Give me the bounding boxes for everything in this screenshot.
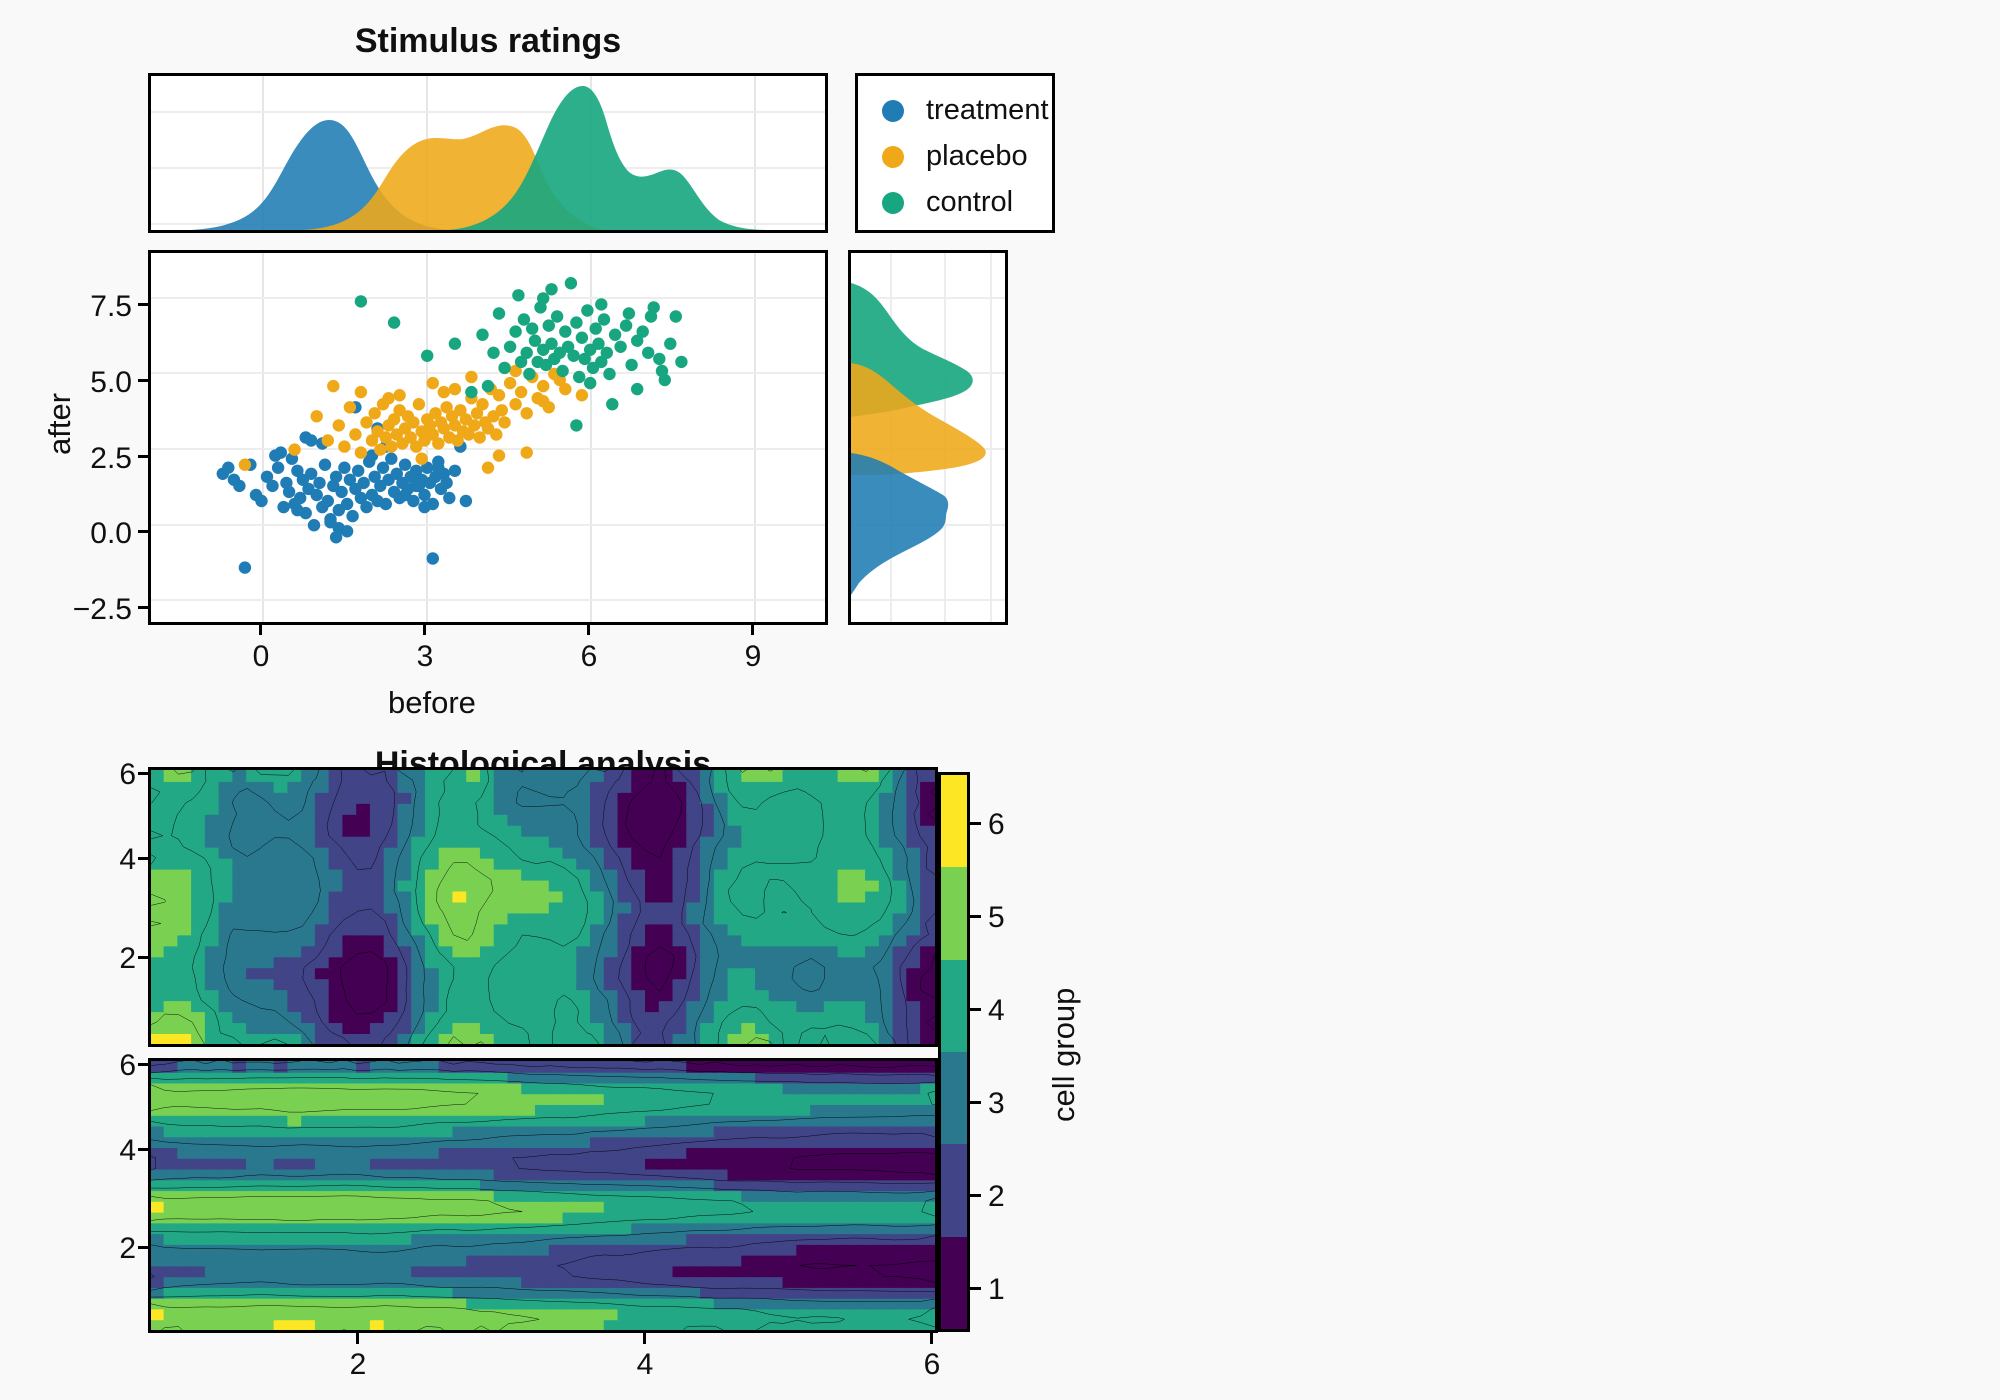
contour-cell: [906, 868, 922, 881]
contour-cell: [810, 1135, 826, 1148]
contour-cell: [906, 988, 922, 1001]
contour-cell: [494, 890, 510, 903]
contour-cell: [769, 1021, 785, 1034]
contour-cell: [425, 1211, 441, 1224]
contour-cell: [755, 1264, 771, 1277]
contour-cell: [232, 944, 248, 957]
contour-cell: [673, 1061, 689, 1073]
contour-cell: [741, 1021, 757, 1034]
contour-cell: [769, 1157, 785, 1170]
contour-cell: [920, 966, 935, 979]
contour-cell: [851, 1010, 867, 1023]
contour-cell: [480, 1232, 496, 1245]
contour-cell: [673, 1021, 689, 1034]
contour-cell: [342, 966, 358, 979]
contour-cell: [865, 857, 881, 870]
scatter-point: [482, 462, 494, 474]
contour-cell: [851, 1157, 867, 1170]
scatter-point: [355, 295, 367, 307]
contour-cell: [824, 999, 840, 1012]
contour-cell: [535, 988, 551, 1001]
contour-cell: [301, 977, 317, 990]
contour-panel-bottom[interactable]: [148, 1058, 938, 1333]
contour-cell: [838, 901, 854, 914]
contour-cell: [728, 1221, 744, 1234]
contour-cell: [370, 999, 386, 1012]
contour-cell: [397, 1146, 413, 1159]
contour-cell: [576, 1189, 592, 1202]
contour-cell: [673, 944, 689, 957]
contour-cell: [810, 966, 826, 979]
contour-cell: [590, 857, 606, 870]
contour-cell: [480, 1243, 496, 1256]
colorbar-band-6: [941, 775, 967, 867]
contour-cell: [879, 791, 895, 804]
contour-cell: [783, 988, 799, 1001]
contour-cell: [755, 846, 771, 859]
contour-cell: [274, 824, 290, 837]
contour-cell: [177, 1264, 193, 1277]
contour-cell: [521, 846, 537, 859]
contour-cell: [838, 857, 854, 870]
contour-cell: [177, 1125, 193, 1138]
contour-cell: [576, 901, 592, 914]
contour-cell: [411, 1168, 427, 1181]
colorbar-tick-4: 4: [988, 994, 1005, 1028]
contour-cell: [397, 1178, 413, 1191]
contour-cell: [356, 1308, 372, 1321]
contour-cell: [287, 1010, 303, 1023]
contour-cell: [645, 1221, 661, 1234]
contour-cell: [769, 1200, 785, 1213]
contour-cell: [879, 988, 895, 1001]
contour-cell: [590, 780, 606, 793]
contour-cell: [714, 770, 730, 782]
scatter-yaxis-label: after: [42, 393, 78, 455]
scatter-panel[interactable]: [148, 250, 828, 625]
contour-cell: [466, 1103, 482, 1116]
contour-cell: [769, 813, 785, 826]
contour-cell: [783, 955, 799, 968]
contour-cell: [246, 922, 262, 935]
scatter-point: [352, 465, 364, 477]
contour-cell: [466, 1200, 482, 1213]
contour-cell: [645, 857, 661, 870]
contour-cell: [232, 1010, 248, 1023]
legend-item-treatment[interactable]: treatment: [882, 94, 1049, 127]
contour-cell: [851, 1221, 867, 1234]
contour-cell: [686, 1308, 702, 1321]
contour-cell: [714, 999, 730, 1012]
contour-cell: [301, 1010, 317, 1023]
contour-cell: [452, 901, 468, 914]
colorbar[interactable]: [938, 772, 970, 1332]
contour-cell: [342, 770, 358, 782]
contour-cell: [452, 966, 468, 979]
contour-cell: [191, 791, 207, 804]
contour-cell: [370, 1071, 386, 1084]
contour-cell: [549, 879, 565, 892]
contour-cell: [439, 912, 455, 925]
contour-cell: [425, 922, 441, 935]
contour-cell: [590, 1135, 606, 1148]
contour-cell: [810, 977, 826, 990]
contour-cell: [604, 1264, 620, 1277]
contour-cell: [769, 966, 785, 979]
contour-cell: [920, 835, 935, 848]
contour-cell: [535, 835, 551, 848]
contour-cell: [535, 1275, 551, 1288]
contour-cell: [769, 835, 785, 848]
contour-cell: [851, 1178, 867, 1191]
contour-cell: [439, 1135, 455, 1148]
scatter-point: [559, 325, 571, 337]
contour-cell: [411, 1021, 427, 1034]
contour-cell: [494, 813, 510, 826]
scatter-ytickmark-2.5: [138, 455, 148, 458]
contour-cell: [728, 1168, 744, 1181]
contour-cell: [604, 1021, 620, 1034]
contour-cell: [783, 802, 799, 815]
contour-cell: [164, 966, 180, 979]
contour-cell: [177, 901, 193, 914]
contour-cell: [342, 1135, 358, 1148]
contour-cell: [893, 1168, 909, 1181]
contour-cell: [329, 857, 345, 870]
contour-cell: [301, 770, 317, 782]
contour-panel-top[interactable]: [148, 767, 938, 1047]
contour-cell: [824, 802, 840, 815]
contour-cell: [274, 1071, 290, 1084]
contour-cell: [604, 966, 620, 979]
contour-cell: [164, 922, 180, 935]
contour-cell: [232, 1135, 248, 1148]
scatter-svg[interactable]: [151, 253, 825, 622]
contour-cell: [301, 999, 317, 1012]
contour-cell: [714, 977, 730, 990]
contour-cell: [494, 835, 510, 848]
contour-cell: [246, 977, 262, 990]
contour-cell: [604, 824, 620, 837]
contour-cell: [810, 1275, 826, 1288]
contour-cell: [645, 780, 661, 793]
contour-top-svg[interactable]: [151, 770, 935, 1044]
contour-cell: [342, 1308, 358, 1321]
contour-cell: [342, 780, 358, 793]
contour-cell: [851, 780, 867, 793]
contour-cell: [549, 770, 565, 782]
contour-cell: [356, 835, 372, 848]
contour-cell: [631, 1021, 647, 1034]
contour-cell: [260, 1232, 276, 1245]
contour-cell: [590, 1125, 606, 1138]
contour-cell: [205, 835, 221, 848]
contour-cell: [714, 933, 730, 946]
contour-cell: [810, 1082, 826, 1095]
contour-bottom-svg[interactable]: [151, 1061, 935, 1330]
contour-cell: [370, 1168, 386, 1181]
contour-cell: [535, 802, 551, 815]
contour-cell: [590, 1157, 606, 1170]
contour-cell: [590, 879, 606, 892]
contour-cell: [507, 977, 523, 990]
contour-cell: [728, 835, 744, 848]
contour-cell: [714, 813, 730, 826]
contour-cell: [549, 868, 565, 881]
contour-cell: [507, 857, 523, 870]
scatter-point: [322, 434, 334, 446]
contour-cell: [893, 857, 909, 870]
contour-cell: [810, 1114, 826, 1127]
contour-cell: [425, 890, 441, 903]
contour-cell: [618, 1178, 634, 1191]
contour-cell: [315, 1211, 331, 1224]
contour-cell: [219, 933, 235, 946]
contour-cell: [246, 1061, 262, 1073]
contour-cell: [329, 1082, 345, 1095]
scatter-points-group: [217, 277, 688, 574]
contour-cell: [260, 1297, 276, 1310]
contour-cell: [755, 1211, 771, 1224]
contour-cell: [563, 1178, 579, 1191]
contour-cell: [205, 944, 221, 957]
contour-cell: [879, 1071, 895, 1084]
contour-cell: [728, 770, 744, 782]
contour-cell: [425, 1082, 441, 1095]
contour-cell: [879, 1286, 895, 1299]
contour-cell: [287, 780, 303, 793]
scatter-point: [222, 462, 234, 474]
contour-cell: [466, 999, 482, 1012]
contour-cell: [301, 1103, 317, 1116]
contour-cell: [838, 1297, 854, 1310]
contour-cell: [260, 922, 276, 935]
contour-cell: [232, 857, 248, 870]
contour-cell: [535, 1114, 551, 1127]
contour-cell: [219, 879, 235, 892]
legend-label-placebo: placebo: [926, 140, 1028, 173]
contour-cell: [645, 977, 661, 990]
contour-cell: [906, 1125, 922, 1138]
contour-cell: [576, 1297, 592, 1310]
contour-cell: [521, 868, 537, 881]
contour-cell: [769, 955, 785, 968]
contour-cell: [741, 1189, 757, 1202]
contour-cell: [315, 1157, 331, 1170]
contour-cell: [659, 988, 675, 1001]
contour-cell: [439, 1010, 455, 1023]
contour-cell: [741, 922, 757, 935]
contour-cell: [700, 1157, 716, 1170]
contour-cell: [219, 1092, 235, 1105]
contour-cell: [700, 955, 716, 968]
contour-cell: [411, 1146, 427, 1159]
contour-cell: [714, 1189, 730, 1202]
contour-cell: [700, 1297, 716, 1310]
contour-cell: [397, 966, 413, 979]
contour-cell: [301, 879, 317, 892]
contour-cell: [219, 1308, 235, 1321]
contour-cell: [329, 1071, 345, 1084]
contour-cell: [659, 977, 675, 990]
contour-cell: [576, 1200, 592, 1213]
contour-cell: [205, 780, 221, 793]
contour-cell: [714, 1168, 730, 1181]
contour-cell: [521, 1092, 537, 1105]
contour-cell: [439, 1071, 455, 1084]
contour-cell: [507, 966, 523, 979]
contour-cell: [810, 1200, 826, 1213]
legend-item-placebo[interactable]: placebo: [882, 140, 1028, 173]
contour-cell: [631, 1264, 647, 1277]
contour-cell: [645, 999, 661, 1012]
contour-cell: [452, 1071, 468, 1084]
contour-cell: [439, 780, 455, 793]
contour-cell: [824, 868, 840, 881]
contour-cell: [329, 1178, 345, 1191]
contour-cell: [851, 977, 867, 990]
contour-cell: [920, 1286, 935, 1299]
contour-cell: [673, 813, 689, 826]
contour-cell: [576, 1010, 592, 1023]
contour-cell: [246, 1308, 262, 1321]
contour-cell: [342, 933, 358, 946]
contour-cell: [631, 770, 647, 782]
contour-cell: [631, 1254, 647, 1267]
contour-cell: [507, 802, 523, 815]
legend-item-control[interactable]: control: [882, 186, 1013, 219]
contour-cell: [494, 1146, 510, 1159]
contour-cell: [494, 1254, 510, 1267]
contour-cell: [301, 1221, 317, 1234]
contour-cell: [274, 1114, 290, 1127]
contour-cell: [576, 1157, 592, 1170]
contour-cell: [769, 944, 785, 957]
contour-cell: [604, 1082, 620, 1095]
contour-cell: [370, 1061, 386, 1073]
contour-cell: [466, 857, 482, 870]
contour-cell: [494, 922, 510, 935]
contour-cell: [439, 1092, 455, 1105]
contour-cell: [851, 1082, 867, 1095]
contour-cell: [604, 1114, 620, 1127]
contour-cell: [301, 1021, 317, 1034]
scatter-point: [645, 310, 657, 322]
contour-cell: [700, 1071, 716, 1084]
contour-cell: [411, 868, 427, 881]
contour-cell: [164, 846, 180, 859]
contour-cell: [714, 1211, 730, 1224]
contour-cell: [425, 879, 441, 892]
contour-cell: [329, 944, 345, 957]
scatter-point: [275, 446, 287, 458]
contour-cell: [177, 944, 193, 957]
contour-cell: [315, 1275, 331, 1288]
contour-cell: [535, 1092, 551, 1105]
contour-cell: [618, 1103, 634, 1116]
contour-cell: [480, 944, 496, 957]
contour-cell: [246, 1092, 262, 1105]
contour-cell: [618, 1211, 634, 1224]
contour-cell: [618, 846, 634, 859]
contour-cell: [301, 868, 317, 881]
contour-cell: [507, 1286, 523, 1299]
contour-cell: [287, 1264, 303, 1277]
scatter-xtickmark-3: [423, 625, 426, 635]
contour-cell: [769, 824, 785, 837]
contour-cell: [645, 1200, 661, 1213]
contour-cell: [631, 1297, 647, 1310]
contour-cell: [219, 901, 235, 914]
contour-cell: [659, 1071, 675, 1084]
contour-cell: [439, 1178, 455, 1191]
contour-cell: [370, 1082, 386, 1095]
contour-cell: [838, 922, 854, 935]
contour-cell: [645, 1297, 661, 1310]
contour-cell: [246, 912, 262, 925]
scatter-point: [333, 419, 345, 431]
contour-cell: [618, 857, 634, 870]
contour-cell: [728, 813, 744, 826]
contour-cell: [590, 1168, 606, 1181]
contour-cell: [205, 1103, 221, 1116]
contour-cell: [397, 835, 413, 848]
contour-cell: [329, 835, 345, 848]
contour-cell: [838, 988, 854, 1001]
contour-cell: [645, 835, 661, 848]
contour-cell: [906, 1092, 922, 1105]
scatter-point: [410, 480, 422, 492]
contour-cell: [700, 1010, 716, 1023]
contour-cell: [838, 999, 854, 1012]
contour-cell: [865, 1103, 881, 1116]
scatter-point: [637, 325, 649, 337]
contour-cell: [906, 857, 922, 870]
contour-cell: [783, 1125, 799, 1138]
contour-cell: [810, 1243, 826, 1256]
contour-cell: [232, 1157, 248, 1170]
contour-cell: [411, 824, 427, 837]
contour-cell: [563, 1114, 579, 1127]
contour-cell: [521, 933, 537, 946]
scatter-point: [509, 398, 521, 410]
contour-cell: [824, 846, 840, 859]
contour-cell: [164, 1178, 180, 1191]
contour-cell: [673, 868, 689, 881]
contour-cell: [631, 1308, 647, 1321]
contour-cell: [673, 1254, 689, 1267]
contour-cell: [796, 770, 812, 782]
contour-cell: [439, 1286, 455, 1299]
contour-cell: [563, 933, 579, 946]
contour-cell: [796, 966, 812, 979]
contour-cell: [260, 1082, 276, 1095]
contour-cell: [755, 1114, 771, 1127]
contour-cell: [342, 1125, 358, 1138]
contour-cell: [810, 879, 826, 892]
contour-cell: [604, 802, 620, 815]
contour-cell: [356, 1275, 372, 1288]
contour-cell: [590, 1021, 606, 1034]
contour-cell: [769, 1082, 785, 1095]
contour-cell: [659, 966, 675, 979]
contour-cell: [205, 977, 221, 990]
contour-cell: [177, 1211, 193, 1224]
contour-cell: [494, 933, 510, 946]
contour-cell: [563, 1021, 579, 1034]
contour-cell: [507, 1146, 523, 1159]
contour-cell: [287, 912, 303, 925]
